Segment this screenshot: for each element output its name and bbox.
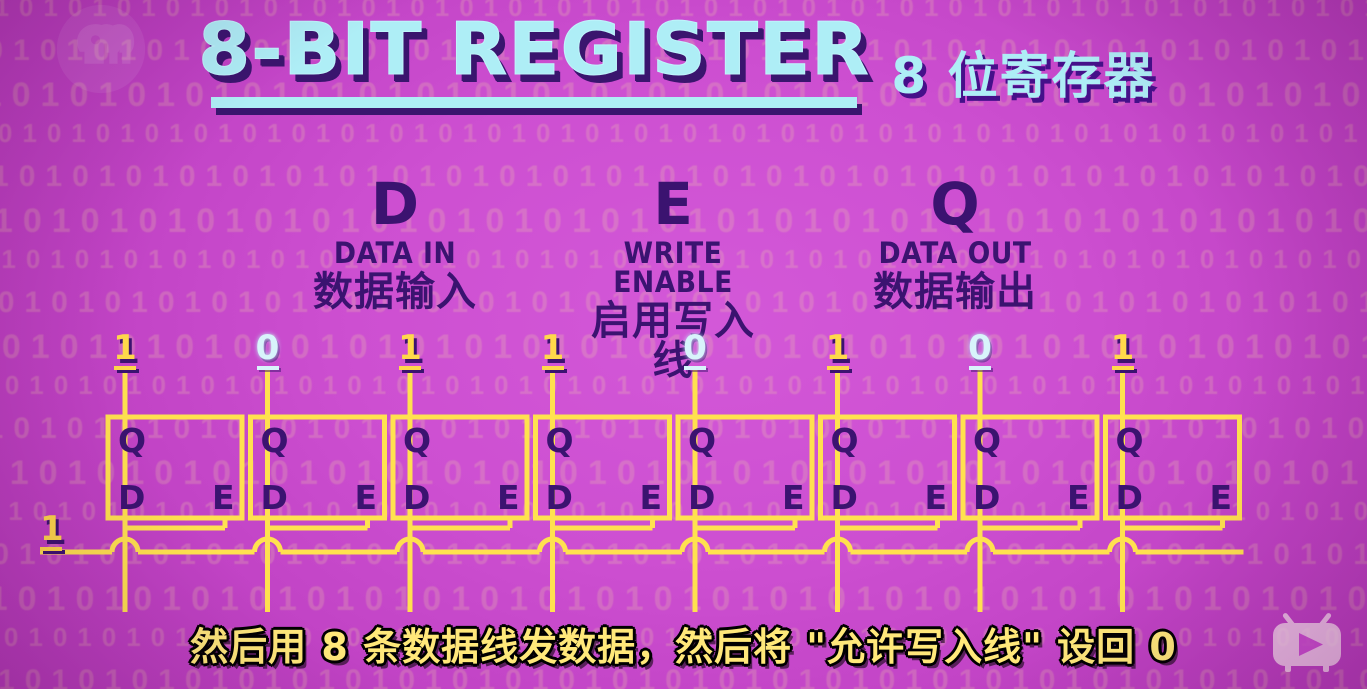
latch-port-e: E xyxy=(1210,478,1233,517)
register-bit-value: 0 xyxy=(675,328,715,370)
latch-port-e: E xyxy=(925,478,948,517)
register-bit-value: 0 xyxy=(248,328,288,370)
video-frame: 0101010101010101010101010101010101010101… xyxy=(0,0,1367,689)
latch-port-d: D xyxy=(118,478,145,517)
latch-port-e: E xyxy=(1067,478,1090,517)
latch-port-q: Q xyxy=(118,421,146,460)
latch-port-d: D xyxy=(688,478,715,517)
register-bit-value: 1 xyxy=(818,328,858,370)
register-bit-digit: 1 xyxy=(1111,328,1135,368)
register-bit-digit: 1 xyxy=(826,328,850,368)
enable-line-digit: 1 xyxy=(40,509,64,549)
register-bit-value: 1 xyxy=(533,328,573,370)
latch-port-d: D xyxy=(403,478,430,517)
register-bit-digit: 0 xyxy=(683,328,707,368)
latch-port-q: Q xyxy=(261,421,289,460)
register-bit-digit: 1 xyxy=(541,328,565,368)
latch-port-q: Q xyxy=(1116,421,1144,460)
register-bit-digit: 0 xyxy=(968,328,992,368)
latch-port-e: E xyxy=(497,478,520,517)
subtitle-text: 然后用 8 条数据线发数据，然后将 "允许写入线" 设回 0 xyxy=(0,616,1367,671)
register-bit-digit: 1 xyxy=(398,328,422,368)
enable-line-value: 1 xyxy=(40,509,64,551)
register-bit-digit: 1 xyxy=(113,328,137,368)
latch-port-q: Q xyxy=(831,421,859,460)
latch-port-q: Q xyxy=(546,421,574,460)
latch-port-d: D xyxy=(546,478,573,517)
latch-port-d: D xyxy=(1116,478,1143,517)
register-bit-value: 1 xyxy=(390,328,430,370)
latch-port-e: E xyxy=(640,478,663,517)
register-bit-value: 0 xyxy=(960,328,1000,370)
latch-port-d: D xyxy=(973,478,1000,517)
latch-port-q: Q xyxy=(403,421,431,460)
latch-port-e: E xyxy=(212,478,235,517)
register-bit-value: 1 xyxy=(1103,328,1143,370)
register-bit-digit: 0 xyxy=(256,328,280,368)
latch-port-e: E xyxy=(782,478,805,517)
latch-port-q: Q xyxy=(688,421,716,460)
latch-port-d: D xyxy=(261,478,288,517)
register-bit-value: 1 xyxy=(105,328,145,370)
latch-port-d: D xyxy=(831,478,858,517)
latch-port-e: E xyxy=(355,478,378,517)
latch-port-q: Q xyxy=(973,421,1001,460)
